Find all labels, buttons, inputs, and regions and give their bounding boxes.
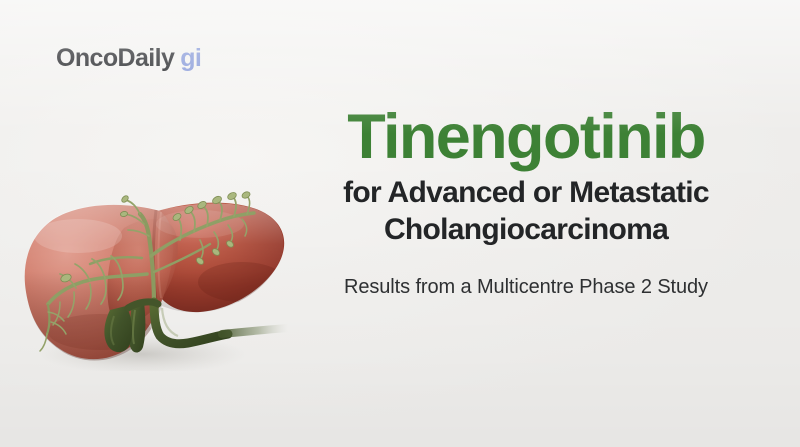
page-subtitle: for Advanced or Metastatic Cholangiocarc… [296,175,756,248]
brand-logo[interactable]: OncoDailygi [56,46,201,71]
liver-illustration [4,96,314,371]
page-title: Tinengotinib [296,106,756,169]
promo-card: OncoDailygi Tinengotinib for Advanced or… [0,0,800,447]
subtitle-line-1: for Advanced or Metastatic [296,175,756,212]
brand-name-primary: OncoDaily [56,44,174,72]
page-tagline: Results from a Multicentre Phase 2 Study [296,274,756,300]
headline-block: Tinengotinib for Advanced or Metastatic … [296,106,756,300]
subtitle-line-2: Cholangiocarcinoma [296,212,756,249]
brand-name-suffix: gi [180,44,201,72]
